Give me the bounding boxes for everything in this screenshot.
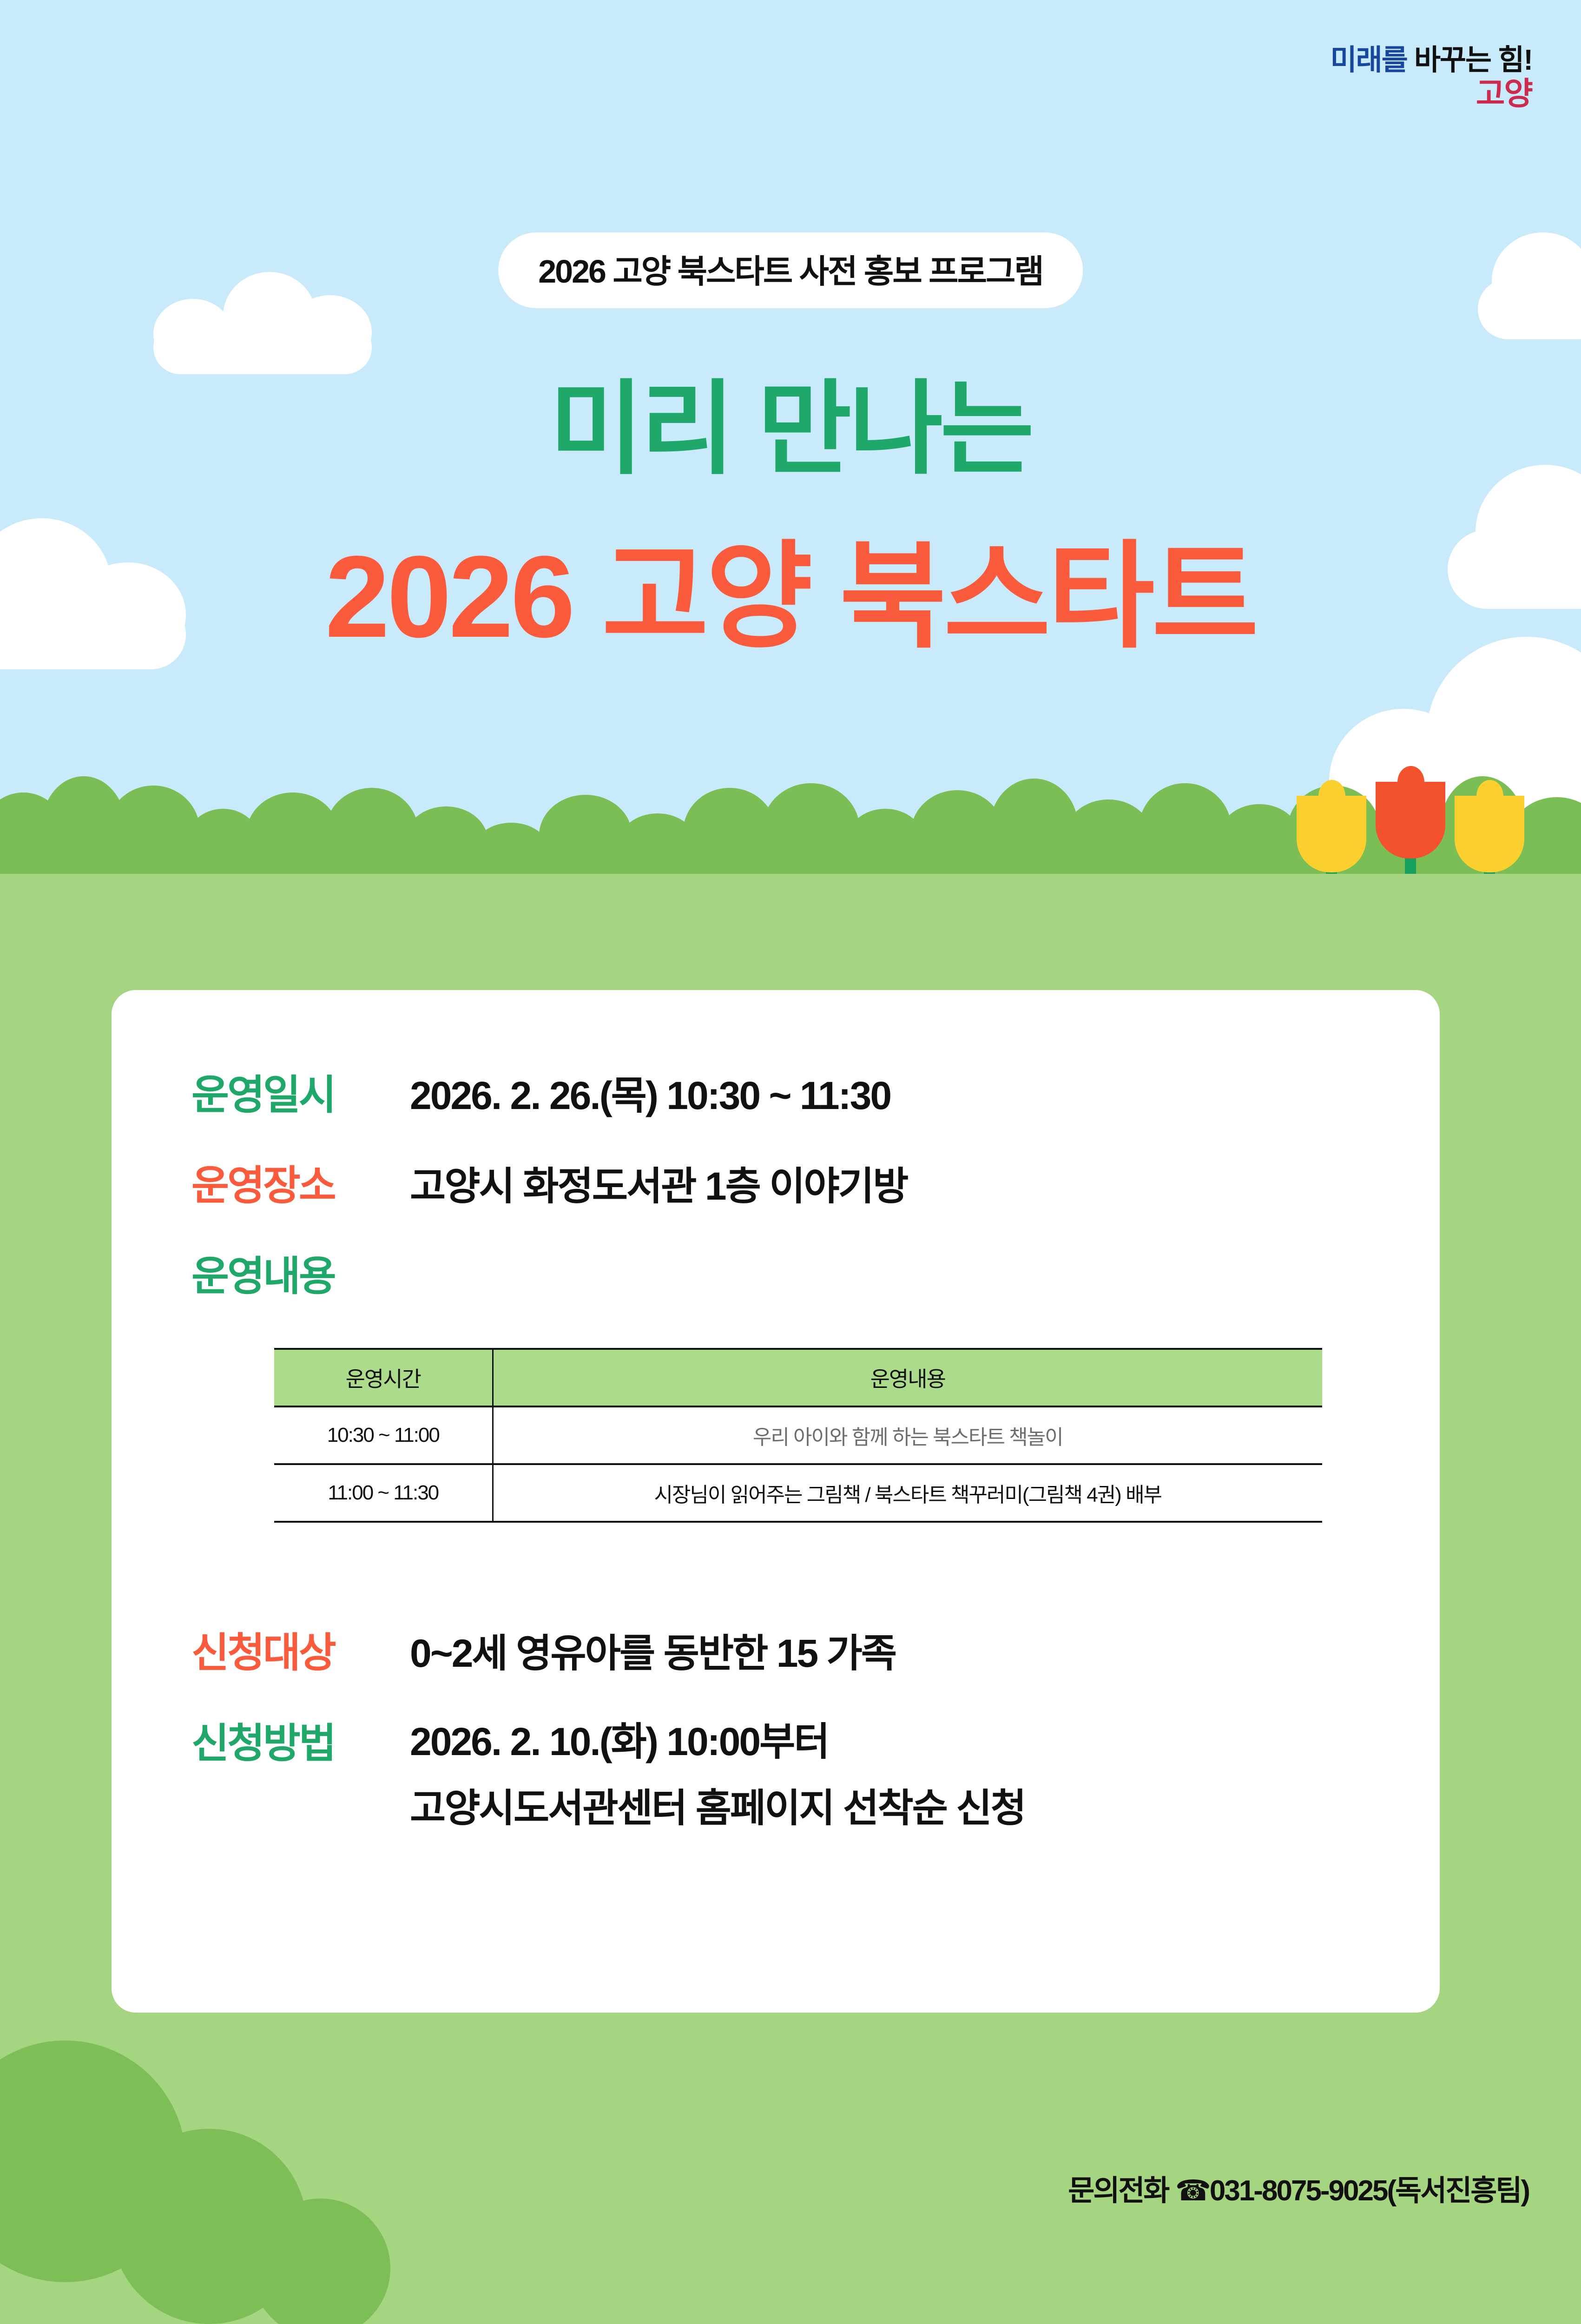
label-method: 신청방법 xyxy=(191,1710,410,1769)
value-datetime: 2026. 2. 26.(목) 10:30 ~ 11:30 xyxy=(410,1064,890,1121)
cell-desc: 우리 아이와 함께 하는 북스타트 책놀이 xyxy=(493,1406,1322,1464)
info-row-target: 신청대상 0~2세 영유아를 동반한 15 가족 xyxy=(191,1620,1400,1679)
tulip-red-center xyxy=(1376,782,1445,874)
label-target: 신청대상 xyxy=(191,1620,410,1679)
label-content: 운영내용 xyxy=(191,1243,410,1302)
headline-line-2: 2026 고양 북스타트 xyxy=(0,502,1581,670)
brand-mark: 미래를 바꾸는 힘! 고양 xyxy=(1331,44,1532,112)
info-row-location: 운영장소 고양시 화정도서관 1층 이야기방 xyxy=(191,1153,1400,1212)
schedule-table: 운영시간 운영내용 10:30 ~ 11:00 우리 아이와 함께 하는 북스타… xyxy=(274,1348,1322,1523)
brand-tagline-rest: 바꾸는 힘! xyxy=(1407,44,1532,76)
contact-footer: 문의전화 ☎031-8075-9025(독서진흥팀) xyxy=(1068,2167,1529,2209)
table-header-time: 운영시간 xyxy=(274,1349,493,1406)
cell-time: 10:30 ~ 11:00 xyxy=(274,1406,493,1464)
table-row: 10:30 ~ 11:00 우리 아이와 함께 하는 북스타트 책놀이 xyxy=(274,1406,1322,1464)
tulip-yellow-left xyxy=(1297,796,1366,874)
table-row: 11:00 ~ 11:30 시장님이 읽어주는 그림책 / 북스타트 책꾸러미(… xyxy=(274,1464,1322,1522)
value-location: 고양시 화정도서관 1층 이야기방 xyxy=(410,1155,907,1211)
table-header-row: 운영시간 운영내용 xyxy=(274,1349,1322,1406)
sky-background: 미래를 바꾸는 힘! 고양 2026 고양 북스타트 사전 홍보 프로그램 미리… xyxy=(0,0,1581,874)
info-row-content: 운영내용 xyxy=(191,1243,1400,1302)
brand-tagline-prefix: 미래를 xyxy=(1331,44,1407,76)
value-method-line1: 2026. 2. 10.(화) 10:00부터 xyxy=(410,1710,1025,1767)
cell-desc: 시장님이 읽어주는 그림책 / 북스타트 책꾸러미(그림책 4권) 배부 xyxy=(493,1464,1322,1522)
brand-city: 고양 xyxy=(1331,76,1532,112)
info-row-datetime: 운영일시 2026. 2. 26.(목) 10:30 ~ 11:30 xyxy=(191,1062,1400,1121)
value-target: 0~2세 영유아를 동반한 15 가족 xyxy=(410,1622,896,1678)
label-datetime: 운영일시 xyxy=(191,1062,410,1121)
value-method-line2: 고양시도서관센터 홈페이지 선착순 신청 xyxy=(410,1777,1025,1833)
brand-tagline: 미래를 바꾸는 힘! xyxy=(1331,44,1532,76)
info-card: 운영일시 2026. 2. 26.(목) 10:30 ~ 11:30 운영장소 … xyxy=(112,990,1440,2013)
tulip-yellow-right xyxy=(1455,796,1524,874)
label-location: 운영장소 xyxy=(191,1153,410,1212)
corner-bush-cluster xyxy=(0,2040,409,2245)
headline-line-1: 미리 만나는 xyxy=(0,346,1581,494)
info-row-method: 신청방법 2026. 2. 10.(화) 10:00부터 고양시도서관센터 홈페… xyxy=(191,1710,1400,1833)
table-header-content: 운영내용 xyxy=(493,1349,1322,1406)
program-pill-label: 2026 고양 북스타트 사전 홍보 프로그램 xyxy=(498,232,1083,308)
cell-time: 11:00 ~ 11:30 xyxy=(274,1464,493,1522)
